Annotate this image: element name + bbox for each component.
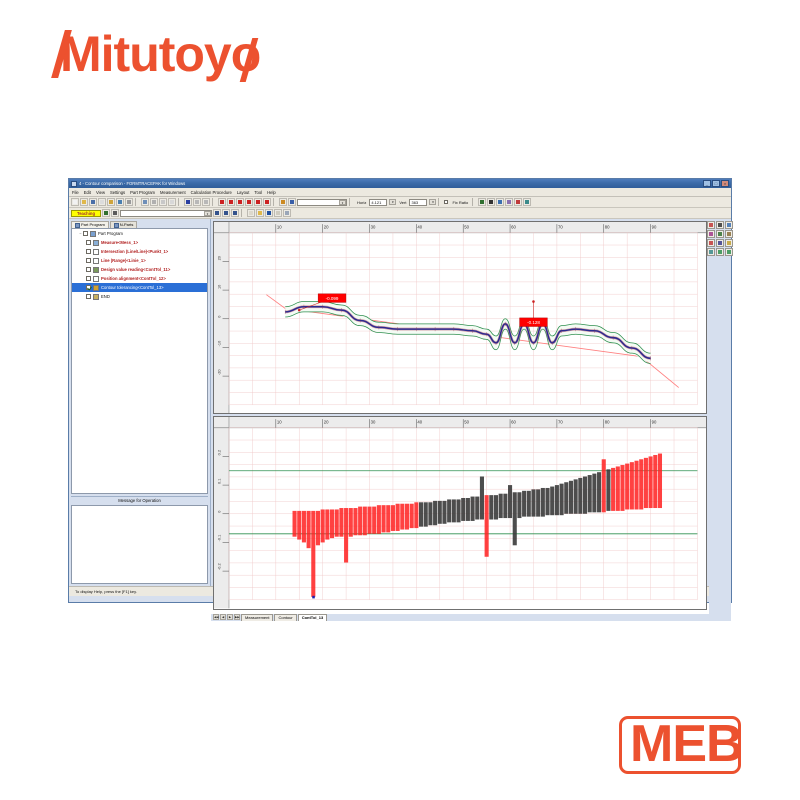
fix-ratio-checkbox[interactable] — [444, 200, 448, 204]
check-icon[interactable] — [716, 248, 724, 256]
rotate-icon[interactable] — [725, 221, 733, 229]
icon-glyph — [709, 241, 713, 245]
svg-text:90: 90 — [652, 420, 657, 425]
tree-root-label: Part Program — [98, 231, 123, 236]
tree-node-1[interactable]: Intersection (Line/Line)<Punkt_1> — [72, 247, 207, 256]
svg-text:50: 50 — [464, 420, 469, 425]
layer-icon[interactable] — [505, 198, 513, 206]
sheet-nav-2[interactable]: ▶ — [227, 614, 233, 620]
zoom-fit-icon[interactable] — [236, 198, 244, 206]
grid-icon — [114, 223, 119, 228]
design-value-icon — [93, 267, 99, 273]
tree-node-0[interactable]: Measure<Mess_1> — [72, 238, 207, 247]
zoom-in-icon[interactable] — [218, 198, 226, 206]
svg-text:80: 80 — [605, 420, 610, 425]
toolbar-separator — [349, 198, 353, 206]
icon-glyph — [727, 223, 731, 227]
settings-icon[interactable] — [288, 198, 296, 206]
move-icon[interactable] — [707, 221, 715, 229]
tree-node-4[interactable]: Position alignment<ContTol_12> — [72, 274, 207, 283]
svg-text:30: 30 — [371, 420, 376, 425]
chevron-down-icon[interactable]: ▾ — [429, 199, 436, 205]
application-window: 4 - Contour comparison - FORMTRACEPAK fo… — [68, 178, 732, 603]
menu-bar: FileEditViewSettingsPart ProgramMeasurem… — [69, 188, 731, 197]
teaching-toolbar: Teaching ▾ — [69, 208, 731, 219]
toolbar-separator — [241, 209, 245, 217]
contour-profile-canvas[interactable]: 10203040506070809020100-10-20-0.099-0.12… — [214, 222, 706, 413]
program-root-icon — [90, 231, 96, 237]
scale-icon[interactable] — [716, 221, 724, 229]
redo-icon[interactable] — [150, 198, 158, 206]
svg-text:10: 10 — [277, 420, 282, 425]
offset-icon[interactable] — [707, 239, 715, 247]
menu-item-tool[interactable]: Tool — [254, 190, 262, 195]
svg-text:60: 60 — [511, 224, 516, 229]
vert-input[interactable]: 363 — [409, 199, 427, 206]
toolbar-separator — [438, 198, 442, 206]
app-icon — [71, 181, 77, 187]
sheet-nav-0[interactable]: ◀◀ — [213, 614, 219, 620]
sort-icon[interactable] — [283, 209, 291, 217]
tree-node-label: Line (Range)<Linie_1> — [101, 258, 146, 263]
message-panel-body — [71, 505, 208, 584]
left-panel: Part ProgramN-Parts −Part ProgramMeasure… — [69, 219, 211, 586]
svg-text:0: 0 — [217, 511, 221, 513]
sheet-tab-bar: ◀◀◀▶▶▶MeasurementContourContTol_13 — [211, 614, 731, 621]
zoom-out-icon[interactable] — [227, 198, 235, 206]
toolbar-separator — [212, 198, 216, 206]
program-icon — [75, 223, 80, 228]
sheet-nav-3[interactable]: ▶▶ — [234, 614, 240, 620]
icon-glyph — [718, 232, 722, 236]
menu-item-view[interactable]: View — [96, 190, 105, 195]
paste-icon[interactable] — [168, 198, 176, 206]
text-icon[interactable] — [487, 198, 495, 206]
zoom-area-icon[interactable] — [245, 198, 253, 206]
new-file-icon[interactable] — [71, 198, 79, 206]
mitutoyo-logo: Mitutoyo — [60, 28, 320, 80]
menu-item-help[interactable]: Help — [267, 190, 276, 195]
copy-icon[interactable] — [159, 198, 167, 206]
step-forward-icon[interactable] — [222, 209, 230, 217]
tree-node-checkbox[interactable] — [86, 249, 91, 254]
svg-text:-0.128: -0.128 — [527, 320, 540, 325]
window-controls: _ □ × — [703, 180, 729, 187]
ok-icon[interactable] — [725, 248, 733, 256]
measure-icon — [93, 240, 99, 246]
open-folder-icon[interactable] — [80, 198, 88, 206]
tool-palette-grid — [707, 221, 733, 256]
fix-ratio-label: Fix Ratio — [452, 200, 468, 205]
grid-icon[interactable] — [496, 198, 504, 206]
sheet-tab-contour[interactable]: Contour — [274, 614, 296, 621]
folder-open-icon[interactable] — [256, 209, 264, 217]
toolbar-separator — [135, 198, 139, 206]
alignment-icon — [93, 276, 99, 282]
tree-node-checkbox[interactable] — [86, 294, 91, 299]
left-tab-part-program[interactable]: Part Program — [71, 221, 109, 228]
right-panel: 10203040506070809020100-10-20-0.099-0.12… — [211, 219, 731, 586]
svg-text:90: 90 — [652, 224, 657, 229]
dim-icon[interactable] — [707, 248, 715, 256]
message-panel-title: Message for Operation — [71, 496, 208, 505]
step-back-icon[interactable] — [213, 209, 221, 217]
part-program-tree[interactable]: −Part ProgramMeasure<Mess_1>Intersection… — [71, 228, 208, 494]
horiz-input[interactable]: 4.121 — [369, 199, 387, 206]
tree-node-label: Measure<Mess_1> — [101, 240, 138, 245]
tree-node-label: Design value reading<ContTol_11> — [101, 267, 170, 272]
svg-text:40: 40 — [417, 420, 422, 425]
icon-glyph — [709, 250, 713, 254]
vert-label: Vert — [399, 200, 406, 205]
print-icon[interactable] — [125, 198, 133, 206]
svg-text:10: 10 — [277, 224, 282, 229]
svg-text:80: 80 — [605, 224, 610, 229]
step-end-icon[interactable] — [231, 209, 239, 217]
line-icon — [93, 258, 99, 264]
menu-item-layout[interactable]: Layout — [237, 190, 250, 195]
horiz-label: Horiz — [357, 200, 366, 205]
lamp-icon[interactable] — [478, 198, 486, 206]
svg-text:40: 40 — [417, 224, 422, 229]
graph-area: 10203040506070809020100-10-20-0.099-0.12… — [211, 219, 731, 614]
zoom-window-icon[interactable] — [254, 198, 262, 206]
svg-text:-20: -20 — [217, 369, 221, 375]
svg-text:-0.1: -0.1 — [217, 535, 221, 542]
toolbar-separator — [273, 198, 277, 206]
chevron-down-icon[interactable]: ▾ — [204, 211, 211, 216]
tree-node-label: END — [101, 294, 110, 299]
tree-root-node[interactable]: −Part Program — [72, 229, 207, 238]
export-icon[interactable] — [523, 198, 531, 206]
save-icon[interactable] — [89, 198, 97, 206]
sheet-tab-measurement[interactable]: Measurement — [241, 614, 273, 621]
save-part-icon[interactable] — [107, 198, 115, 206]
menu-item-calculation-procedure[interactable]: Calculation Procedure — [191, 190, 232, 195]
icon-glyph — [727, 241, 731, 245]
sheet-tab-conttol-13[interactable]: ContTol_13 — [298, 614, 327, 621]
table-icon[interactable] — [274, 209, 282, 217]
workspace: Part ProgramN-Parts −Part ProgramMeasure… — [69, 219, 731, 586]
graph-column: 10203040506070809020100-10-20-0.099-0.12… — [211, 219, 709, 614]
tree-node-checkbox[interactable] — [86, 240, 91, 245]
deviation-chart[interactable]: 1020304050607080900.20.10-0.1-0.2 — [213, 416, 707, 609]
end-icon — [93, 294, 99, 300]
stop-icon[interactable] — [111, 209, 119, 217]
svg-text:20: 20 — [324, 224, 329, 229]
svg-text:70: 70 — [558, 224, 563, 229]
window-title: 4 - Contour comparison - FORMTRACEPAK fo… — [79, 181, 703, 186]
left-panel-tabs: Part ProgramN-Parts — [69, 219, 210, 228]
main-toolbar: ▾Horiz4.121▾Vert363▾Fix Ratio — [69, 197, 731, 208]
intersection-icon — [93, 249, 99, 255]
toolbar-separator — [178, 198, 182, 206]
undo-icon[interactable] — [141, 198, 149, 206]
trim-icon[interactable] — [716, 230, 724, 238]
tree-node-checkbox[interactable] — [86, 285, 91, 290]
close-button[interactable]: × — [721, 180, 729, 187]
svg-text:30: 30 — [371, 224, 376, 229]
menu-item-file[interactable]: File — [72, 190, 79, 195]
icon-glyph — [727, 232, 731, 236]
list-icon[interactable] — [247, 209, 255, 217]
record-icon[interactable] — [102, 209, 110, 217]
maximize-button[interactable]: □ — [712, 180, 720, 187]
toolbar-separator — [472, 198, 476, 206]
svg-text:20: 20 — [324, 420, 329, 425]
minimize-button[interactable]: _ — [703, 180, 711, 187]
meb-wordmark: MEB — [630, 718, 741, 770]
svg-text:0.2: 0.2 — [217, 450, 221, 455]
tree-node-checkbox[interactable] — [86, 276, 91, 281]
arrow-up-icon[interactable] — [279, 198, 287, 206]
svg-text:60: 60 — [511, 420, 516, 425]
menu-item-measurement[interactable]: Measurement — [160, 190, 186, 195]
sheet-nav-1[interactable]: ◀ — [220, 614, 226, 620]
tolerance-icon — [93, 285, 99, 291]
measure-icon[interactable] — [184, 198, 192, 206]
delete-icon[interactable] — [202, 198, 210, 206]
menu-item-part-program[interactable]: Part Program — [130, 190, 155, 195]
mirror-icon[interactable] — [707, 230, 715, 238]
note-icon[interactable] — [725, 239, 733, 247]
svg-text:-0.099: -0.099 — [326, 296, 339, 301]
cut-icon[interactable] — [193, 198, 201, 206]
menu-item-settings[interactable]: Settings — [110, 190, 125, 195]
svg-text:-10: -10 — [217, 341, 221, 347]
svg-text:10: 10 — [217, 285, 221, 289]
message-panel: Message for Operation — [71, 496, 208, 584]
tree-node-3[interactable]: Design value reading<ContTol_11> — [72, 265, 207, 274]
svg-text:0.1: 0.1 — [217, 479, 221, 484]
tree-node-2[interactable]: Line (Range)<Linie_1> — [72, 256, 207, 265]
save-all-icon[interactable] — [116, 198, 124, 206]
meb-logo: MEB — [619, 716, 741, 774]
svg-text:20: 20 — [217, 256, 221, 260]
right-tool-palette — [709, 219, 731, 614]
svg-text:70: 70 — [558, 420, 563, 425]
tree-node-checkbox[interactable] — [86, 267, 91, 272]
icon-glyph — [718, 223, 722, 227]
teaching-badge[interactable]: Teaching — [71, 210, 101, 217]
mitutoyo-wordmark: Mitutoyo — [60, 28, 320, 80]
zoom-reset-icon[interactable] — [263, 198, 271, 206]
icon-glyph — [709, 232, 713, 236]
chevron-down-icon[interactable]: ▾ — [339, 200, 346, 205]
tree-node-5[interactable]: Contour tolerancing<ContTol_13> — [72, 283, 207, 292]
tree-node-label: Intersection (Line/Line)<Punkt_1> — [101, 249, 168, 254]
svg-text:50: 50 — [464, 224, 469, 229]
extend-icon[interactable] — [725, 230, 733, 238]
tree-node-checkbox[interactable] — [86, 258, 91, 263]
svg-text:0: 0 — [217, 316, 221, 318]
deviation-canvas[interactable]: 1020304050607080900.20.10-0.1-0.2 — [214, 417, 706, 608]
run-icon[interactable] — [265, 209, 273, 217]
tree-node-label: Position alignment<ContTol_12> — [101, 276, 166, 281]
title-bar: 4 - Contour comparison - FORMTRACEPAK fo… — [69, 179, 731, 188]
tree-node-label: Contour tolerancing<ContTol_13> — [101, 285, 164, 290]
menu-item-edit[interactable]: Edit — [84, 190, 91, 195]
pan-icon[interactable] — [716, 239, 724, 247]
scale-combo[interactable]: ▾ — [297, 199, 347, 206]
icon-glyph — [718, 250, 722, 254]
tree-checkbox[interactable] — [83, 231, 88, 236]
contour-profile-chart[interactable]: 10203040506070809020100-10-20-0.099-0.12… — [213, 221, 707, 414]
icon-glyph — [727, 250, 731, 254]
teaching-step-combo[interactable]: ▾ — [120, 210, 212, 217]
icon-glyph — [709, 223, 713, 227]
icon-glyph — [718, 241, 722, 245]
left-tab-n-parts[interactable]: N-Parts — [110, 221, 138, 228]
tree-node-6[interactable]: END — [72, 292, 207, 301]
new-part-icon[interactable] — [98, 198, 106, 206]
svg-text:-0.2: -0.2 — [217, 564, 221, 571]
chart-icon[interactable] — [514, 198, 522, 206]
chevron-down-icon[interactable]: ▾ — [389, 199, 396, 205]
